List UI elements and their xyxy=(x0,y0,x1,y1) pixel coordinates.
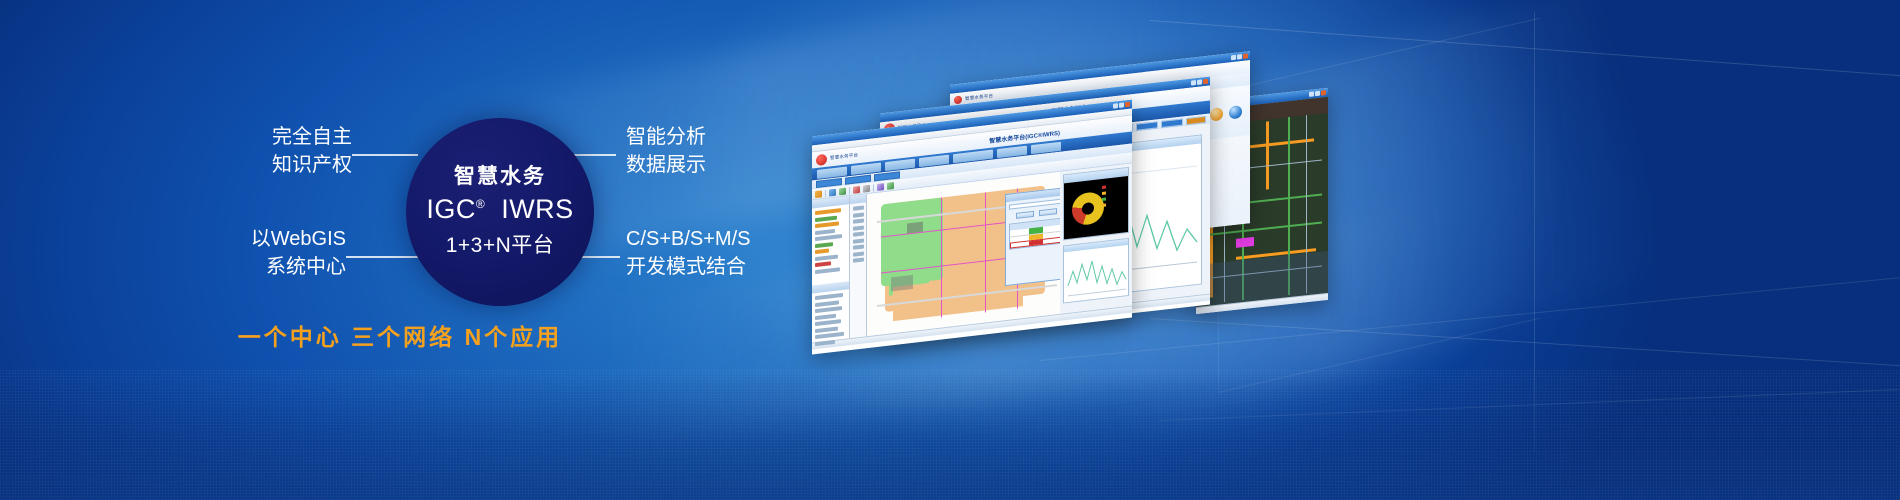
hub-product-suffix: IWRS xyxy=(501,194,574,224)
legend-swatch xyxy=(1102,197,1106,200)
minimize-icon[interactable] xyxy=(1191,80,1196,86)
feature-line1: 智能分析 xyxy=(626,126,706,148)
hub-platform: 1+3+N平台 xyxy=(446,229,555,259)
feature-line1: C/S+B/S+M/S xyxy=(626,228,751,250)
close-icon[interactable] xyxy=(1243,53,1248,59)
maximize-icon[interactable] xyxy=(1237,54,1242,60)
close-icon[interactable] xyxy=(1203,79,1208,85)
feature-label-bottom-left: 以WebGIS 系统中心 xyxy=(150,225,346,282)
tagline: 一个中心 三个网络 N个应用 xyxy=(0,318,800,352)
trend-panel[interactable] xyxy=(1063,238,1129,304)
legend-swatch xyxy=(1102,185,1106,188)
maximize-icon[interactable] xyxy=(1119,102,1124,108)
trend-chart xyxy=(1064,245,1128,302)
hub-product-prefix: IGC xyxy=(426,194,476,224)
query-icon[interactable] xyxy=(887,182,894,190)
maximize-icon[interactable] xyxy=(1315,91,1320,97)
map-tool-column[interactable] xyxy=(850,194,867,338)
hub-circle[interactable]: 智慧水务 IGC® IWRS 1+3+N平台 xyxy=(406,118,594,306)
connector-bottom-left xyxy=(346,256,420,258)
hero-banner: 智慧水务平台 xyxy=(0,0,1900,500)
legend-swatch xyxy=(1102,191,1106,194)
dialog-confirm-button[interactable] xyxy=(1016,211,1034,219)
feature-line2: 系统中心 xyxy=(150,253,346,281)
concept-diagram: 智慧水务 IGC® IWRS 1+3+N平台 完全自主 知识产权 智能分析 数据… xyxy=(0,0,840,500)
minimize-icon[interactable] xyxy=(1113,103,1118,109)
feature-label-top-left: 完全自主 知识产权 xyxy=(160,123,352,180)
screenshot-window-gis[interactable]: 智慧水务平台 智慧水务平台(IGC®IWRS) xyxy=(812,99,1132,354)
trend-chart-svg xyxy=(1064,245,1128,302)
right-dashboard xyxy=(1060,163,1132,313)
feature-line1: 完全自主 xyxy=(272,126,352,148)
maximize-icon[interactable] xyxy=(1197,79,1202,85)
pan-icon[interactable] xyxy=(853,185,860,193)
registered-mark-icon: ® xyxy=(476,197,485,211)
measure-icon[interactable] xyxy=(877,183,884,191)
feature-label-bottom-right: C/S+B/S+M/S 开发模式结合 xyxy=(626,225,751,282)
close-icon[interactable] xyxy=(1125,102,1130,108)
feature-line2: 开发模式结合 xyxy=(626,253,751,281)
select-icon[interactable] xyxy=(863,184,870,192)
module-icon[interactable] xyxy=(1210,107,1223,121)
monitor-panel[interactable] xyxy=(1063,167,1129,241)
minimize-icon[interactable] xyxy=(1309,91,1314,97)
dialog-cancel-button[interactable] xyxy=(1039,208,1057,216)
feature-line1: 以WebGIS xyxy=(251,228,346,250)
feature-line2: 知识产权 xyxy=(160,151,352,179)
app-logo-icon xyxy=(954,95,962,104)
legend-swatch xyxy=(1102,203,1106,206)
donut-chart xyxy=(1064,176,1128,239)
analysis-dialog[interactable] xyxy=(1005,187,1060,286)
hub-product: IGC® IWRS xyxy=(426,195,573,225)
gis-map-canvas[interactable] xyxy=(867,172,1060,336)
module-icon[interactable] xyxy=(1229,105,1242,119)
feature-line2: 数据展示 xyxy=(626,151,706,179)
tool-list[interactable] xyxy=(850,202,866,268)
connector-top-left xyxy=(352,154,418,156)
feature-label-top-right: 智能分析 数据展示 xyxy=(626,123,706,180)
zoom-in-icon[interactable] xyxy=(839,187,846,195)
close-icon[interactable] xyxy=(1321,90,1326,96)
hub-name: 智慧水务 xyxy=(454,165,546,188)
minimize-icon[interactable] xyxy=(1231,55,1236,61)
